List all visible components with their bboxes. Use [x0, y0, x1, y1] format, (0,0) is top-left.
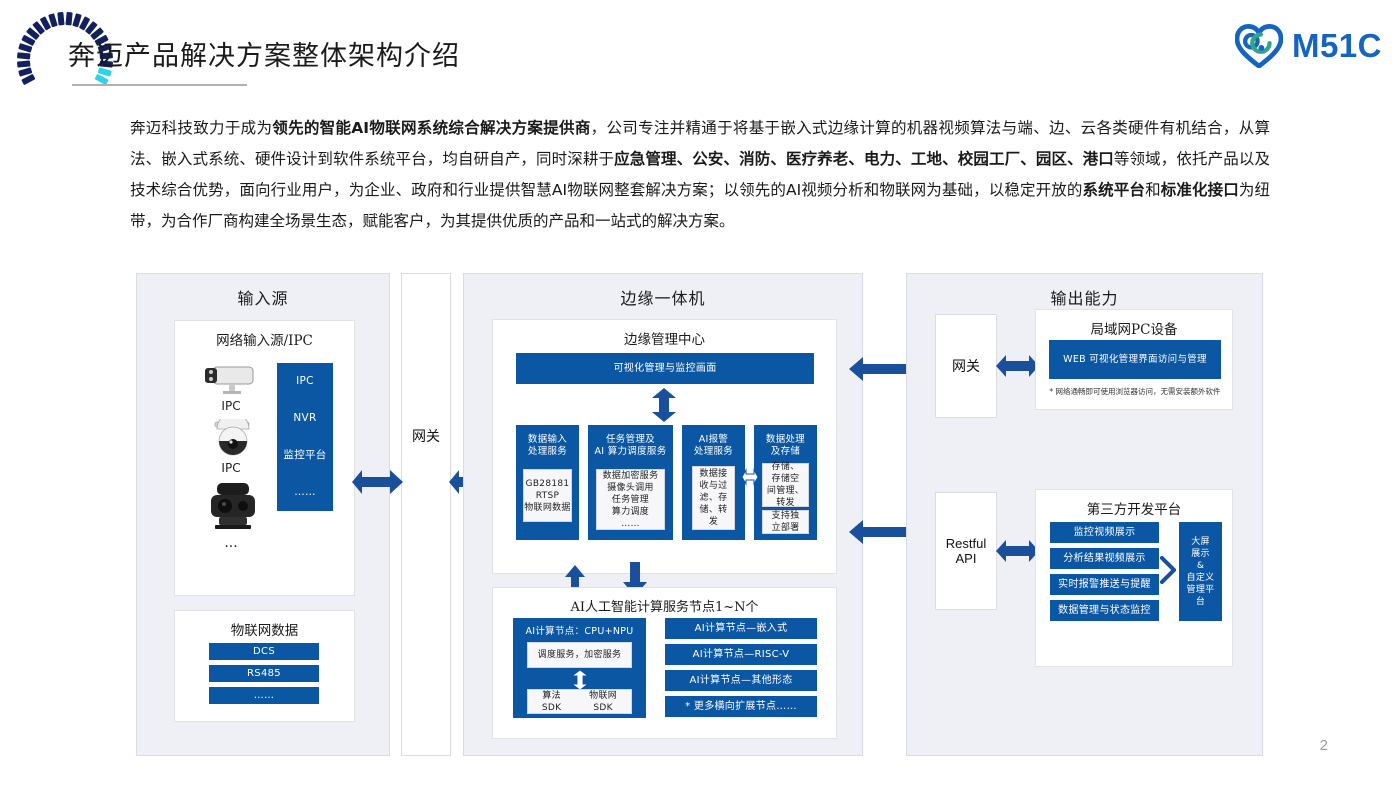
- service-box-ai-alarm: AI报警 处理服务 数据接 收与过 滤、存 储、转 发: [682, 425, 745, 540]
- third-party-platform-title: 第三方开发平台: [1036, 490, 1232, 518]
- service-box-data-input: 数据输入 处理服务 GB28181 RTSP 物联网数据: [516, 425, 579, 540]
- intro-paragraph: 奔迈科技致力于成为领先的智能AI物联网系统综合解决方案提供商，公司专注并精通于将…: [130, 113, 1270, 237]
- protocol-item-platform: 监控平台: [283, 449, 326, 462]
- intro-bold-2: 应急管理、公安、消防、医疗养老、电力、工地、校园工厂、园区、港口: [614, 150, 1114, 168]
- intro-bold-4: 标准化接口: [1161, 181, 1239, 199]
- ring-dash: [57, 12, 64, 26]
- intro-seg-1: 奔迈科技致力于成为: [130, 119, 272, 137]
- iot-item-dcs: DCS: [209, 643, 319, 660]
- dome-camera-icon: [205, 419, 261, 461]
- ptz-camera-icon: [205, 479, 261, 531]
- arrow-banner-to-services: [650, 388, 678, 422]
- bullet-camera-icon: [201, 361, 261, 395]
- service-detail-ai-alarm: 数据接 收与过 滤、存 储、转 发: [692, 466, 735, 530]
- arrow-scheduler-to-sdk: [571, 670, 589, 690]
- panel-output-capability-title: 输出能力: [907, 274, 1262, 309]
- network-source-box: 网络输入源/IPC IPC IPC: [174, 320, 355, 596]
- ai-sdk-box: 算法 SDK 物联网 SDK: [527, 689, 632, 714]
- service-box-task-scheduling: 任务管理及 AI 算力调度服务 数据加密服务 摄像头调用 任务管理 算力调度 ……: [588, 425, 673, 540]
- ai-node-type-other: AI计算节点—其他形态: [665, 670, 817, 691]
- ai-main-node-box: AI计算节点：CPU+NPU 调度服务，加密服务 算法 SDK 物联网 SDK: [513, 618, 646, 718]
- brand-logo: M51C: [1235, 22, 1382, 70]
- panel-input-source-title: 输入源: [137, 274, 389, 309]
- ring-dash: [17, 52, 31, 59]
- service-detail-task-scheduling: 数据加密服务 摄像头调用 任务管理 算力调度 ……: [596, 469, 665, 530]
- intro-seg-4: 和: [1145, 181, 1161, 199]
- logo-text: M51C: [1292, 27, 1382, 65]
- feature-video-display: 监控视频展示: [1050, 522, 1159, 543]
- slide-header: 奔迈产品解决方案整体架构介绍 M51C: [0, 0, 1400, 105]
- feature-data-management: 数据管理与状态监控: [1050, 600, 1159, 621]
- ai-nodes-box: AI人工智能计算服务节点1~N个 AI计算节点：CPU+NPU 调度服务，加密服…: [492, 587, 837, 739]
- service-detail-standalone: 支持独 立部署: [762, 510, 809, 534]
- ai-node-type-embedded: AI计算节点—嵌入式: [665, 618, 817, 639]
- intro-bold-3: 系统平台: [1083, 181, 1146, 199]
- camera-label-1: IPC: [191, 399, 271, 413]
- service-detail-storage: 存储、 存储空 间管理、 转发: [762, 463, 809, 507]
- intro-bold-1: 领先的智能AI物联网系统综合解决方案提供商: [272, 119, 590, 137]
- architecture-diagram: 输入源 网络输入源/IPC IPC IPC: [0, 265, 1400, 765]
- service-title-task-scheduling: 任务管理及 AI 算力调度服务: [594, 434, 666, 458]
- feature-analysis-display: 分析结果视频展示: [1050, 548, 1159, 569]
- service-title-storage: 数据处理 及存储: [766, 434, 805, 458]
- protocol-item-more: ……: [294, 486, 316, 499]
- iot-data-title: 物联网数据: [175, 611, 354, 639]
- ai-node-type-riscv: AI计算节点—RISC-V: [665, 644, 817, 665]
- ai-scheduler-box: 调度服务，加密服务: [527, 642, 632, 668]
- panel-output-capability: 输出能力 网关 局域网PC设备 WEB 可视化管理界面访问与管理 * 网络通畅即…: [906, 273, 1263, 756]
- third-party-platform-box: 第三方开发平台 监控视频展示 分析结果视频展示 实时报警推送与提醒 数据管理与状…: [1035, 489, 1233, 667]
- heart-circle-logo-icon: [1235, 24, 1283, 68]
- chevron-right-icon: [1160, 556, 1176, 584]
- feature-alarm-push: 实时报警推送与提醒: [1050, 574, 1159, 595]
- edge-management-center-title: 边缘管理中心: [493, 320, 836, 348]
- panel-edge-appliance-title: 边缘一体机: [464, 274, 862, 309]
- service-title-data-input: 数据输入 处理服务: [528, 434, 567, 458]
- restful-api-box: Restful API: [935, 492, 997, 610]
- ai-node-type-more: * 更多横向扩展节点……: [665, 696, 817, 717]
- iot-item-rs485: RS485: [209, 665, 319, 682]
- panel-input-source: 输入源 网络输入源/IPC IPC IPC: [136, 273, 390, 756]
- lan-pc-title: 局域网PC设备: [1036, 310, 1232, 338]
- protocol-item-ipc: IPC: [296, 375, 314, 388]
- service-title-ai-alarm: AI报警 处理服务: [694, 434, 733, 458]
- ai-main-node-title: AI计算节点：CPU+NPU: [525, 625, 633, 638]
- service-detail-data-input: GB28181 RTSP 物联网数据: [523, 469, 572, 522]
- camera-label-2: IPC: [191, 461, 271, 475]
- arrow-alarm-to-storage: [742, 468, 758, 486]
- arrow-restful-to-thirdparty: [996, 538, 1040, 564]
- arrow-gateway-to-lanpc: [996, 353, 1040, 379]
- gateway-left-box: 网关: [401, 273, 451, 756]
- arrow-input-to-gateway: [352, 468, 404, 496]
- web-management-banner: WEB 可视化管理界面访问与管理: [1049, 340, 1221, 379]
- lan-pc-note: * 网络通畅即可使用浏览器访问，无需安装额外软件: [1044, 386, 1226, 397]
- lan-pc-box: 局域网PC设备 WEB 可视化管理界面访问与管理 * 网络通畅即可使用浏览器访问…: [1035, 309, 1233, 410]
- page-title: 奔迈产品解决方案整体架构介绍: [68, 34, 460, 73]
- iot-item-more: ……: [209, 687, 319, 704]
- service-box-storage: 数据处理 及存储 存储、 存储空 间管理、 转发 支持独 立部署: [754, 425, 817, 540]
- page-number: 2: [1320, 737, 1328, 754]
- panel-edge-appliance: 边缘一体机 边缘管理中心 可视化管理与监控画面 数据输入 处理服务 GB2818…: [463, 273, 863, 756]
- edge-management-center-box: 边缘管理中心 可视化管理与监控画面 数据输入 处理服务 GB28181 RTSP…: [492, 319, 837, 574]
- camera-label-3: ...: [191, 535, 271, 551]
- visual-management-banner: 可视化管理与监控画面: [516, 353, 814, 384]
- title-underline: [72, 84, 247, 86]
- ring-dash: [65, 12, 72, 26]
- ring-dash: [17, 60, 31, 67]
- protocol-stack-box: IPC NVR 监控平台 ……: [277, 363, 333, 511]
- ai-sdk-algorithm: 算法 SDK: [542, 690, 561, 714]
- ai-sdk-iot: 物联网 SDK: [589, 690, 617, 714]
- iot-data-box: 物联网数据 DCS RS485 ……: [174, 610, 355, 722]
- ai-nodes-title: AI人工智能计算服务节点1~N个: [493, 588, 836, 615]
- protocol-item-nvr: NVR: [293, 412, 316, 425]
- output-gateway-box: 网关: [935, 314, 997, 418]
- network-source-title: 网络输入源/IPC: [175, 321, 354, 349]
- display-platform-box: 大屏 展示 & 自定义 管理平 台: [1179, 522, 1222, 621]
